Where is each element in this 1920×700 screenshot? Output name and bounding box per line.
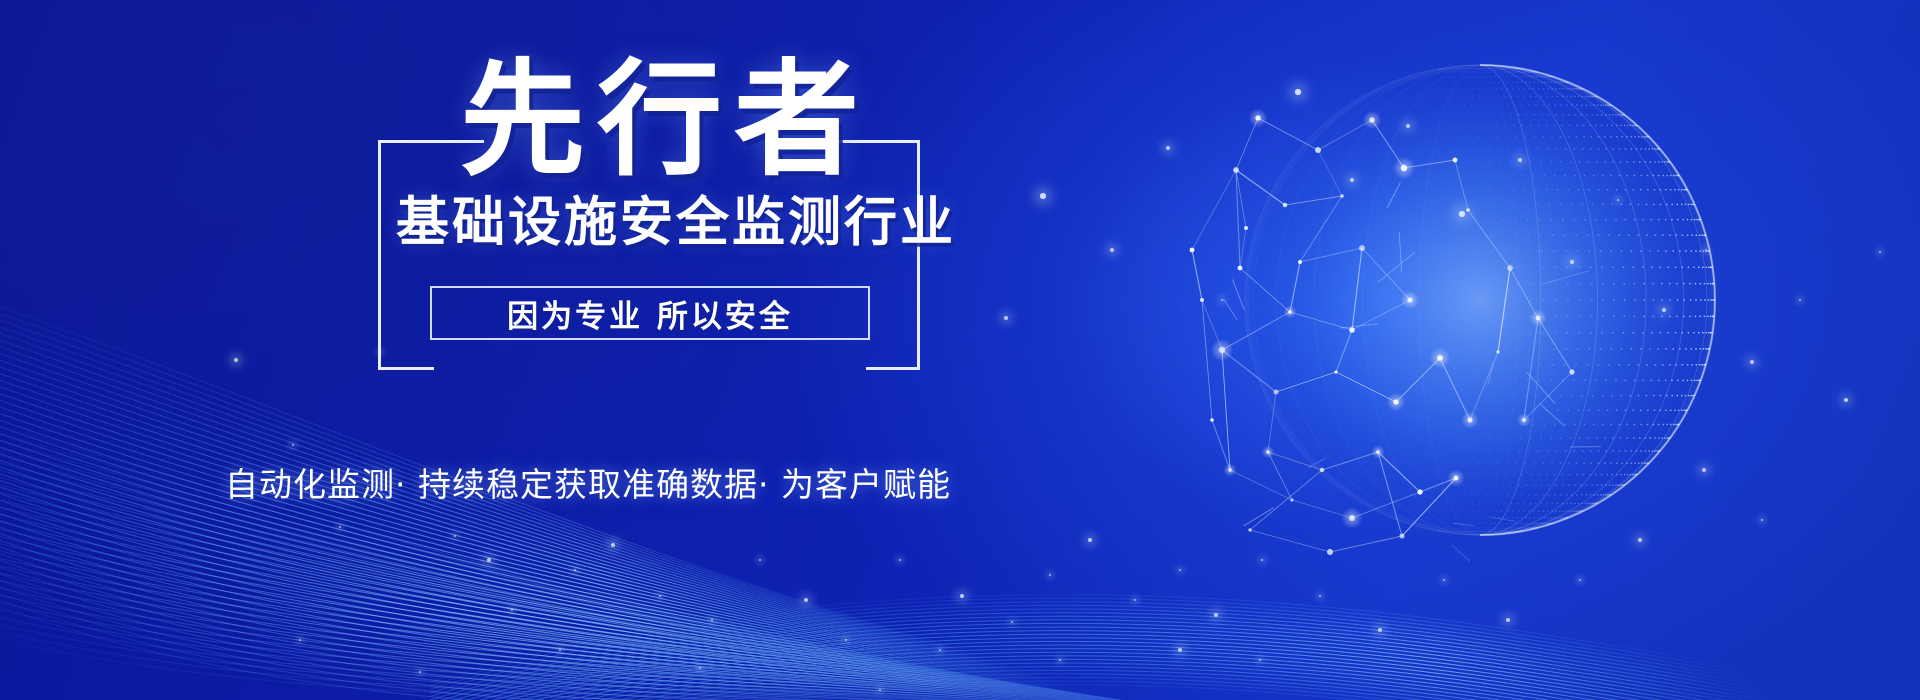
bracket-right-bottom-stub — [866, 367, 920, 370]
star-dot — [699, 667, 702, 670]
star-dot — [1443, 579, 1446, 582]
star-dot — [574, 569, 577, 572]
star-dot — [1705, 249, 1708, 252]
star-dot — [1761, 519, 1764, 522]
star-dot — [511, 609, 514, 612]
star-dot — [1799, 299, 1802, 302]
bracket-left-bottom-stub — [378, 367, 434, 370]
star-dot — [804, 598, 808, 602]
star-dot — [659, 595, 662, 598]
star-dot — [1879, 251, 1882, 254]
tagline-text: 自动化监测· 持续稳定获取准确数据· 为客户赋能 — [225, 458, 951, 506]
headline-block: 先行者 基础设施安全监测行业 因为专业 所以安全 自动化监测· 持续稳定获取准确… — [0, 0, 1100, 560]
star-dot — [960, 594, 964, 598]
star-dot — [1059, 659, 1062, 662]
wireframe-globe-icon — [1180, 40, 1800, 600]
subhead-text: 基础设施安全监测行业 — [396, 196, 956, 249]
star-dot — [1134, 599, 1137, 602]
star-dot — [1662, 308, 1666, 312]
headline-text: 先行者 — [460, 58, 871, 183]
star-dot — [845, 639, 848, 642]
star-dot — [1570, 260, 1574, 264]
star-dot — [1319, 595, 1322, 598]
star-dot — [1011, 621, 1014, 624]
star-dot — [1259, 659, 1262, 662]
star-dot — [939, 649, 942, 652]
star-dot — [1518, 158, 1522, 162]
star-dot — [1110, 248, 1114, 252]
star-dot — [1750, 360, 1754, 364]
slogan-text: 因为专业 所以安全 — [430, 286, 870, 340]
star-dot — [1178, 648, 1182, 652]
star-dot — [1261, 559, 1264, 562]
star-dot — [1049, 574, 1052, 577]
star-dot — [1579, 579, 1582, 582]
star-dot — [1166, 146, 1170, 150]
star-dot — [299, 639, 302, 642]
star-dot — [1179, 569, 1182, 572]
star-dot — [559, 649, 562, 652]
banner-root: 先行者 基础设施安全监测行业 因为专业 所以安全 自动化监测· 持续稳定获取准确… — [0, 0, 1920, 700]
star-dot — [1638, 538, 1642, 542]
star-dot — [1350, 178, 1354, 182]
bracket-right-vertical — [917, 140, 920, 370]
star-dot — [1406, 124, 1410, 128]
star-dot — [1506, 618, 1510, 622]
star-dot — [1844, 398, 1848, 402]
star-dot — [1617, 199, 1620, 202]
star-dot — [419, 671, 422, 674]
bracket-left-vertical — [378, 140, 381, 370]
star-dot — [1378, 628, 1382, 632]
star-dot — [1214, 613, 1218, 617]
star-dot — [1459, 211, 1464, 216]
star-dot — [1295, 89, 1300, 94]
star-dot — [1702, 468, 1706, 472]
star-dot — [879, 689, 882, 692]
star-dot — [711, 619, 714, 622]
star-dot — [1221, 299, 1224, 302]
